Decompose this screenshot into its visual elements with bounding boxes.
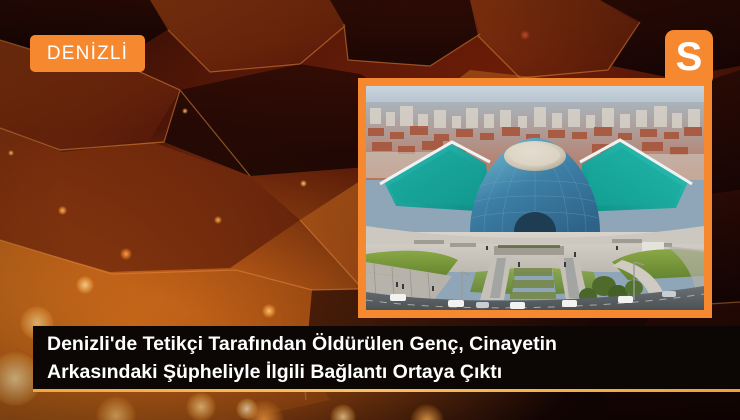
photo-frame	[358, 78, 712, 318]
city-badge-label: DENİZLİ	[47, 44, 128, 63]
brand-logo[interactable]: S	[665, 30, 713, 86]
brand-logo-letter: S	[676, 37, 703, 77]
news-card: DENİZLİ S	[0, 0, 740, 420]
headline-line-2: Arkasındaki Şüpheliyle İlgili Bağlantı O…	[47, 358, 740, 386]
headline-line-1: Denizli'de Tetikçi Tarafından Öldürülen …	[47, 330, 740, 358]
headline-underline	[33, 389, 740, 392]
news-photo	[366, 86, 704, 310]
city-badge: DENİZLİ	[30, 35, 145, 72]
headline-panel: Denizli'de Tetikçi Tarafından Öldürülen …	[33, 326, 740, 390]
